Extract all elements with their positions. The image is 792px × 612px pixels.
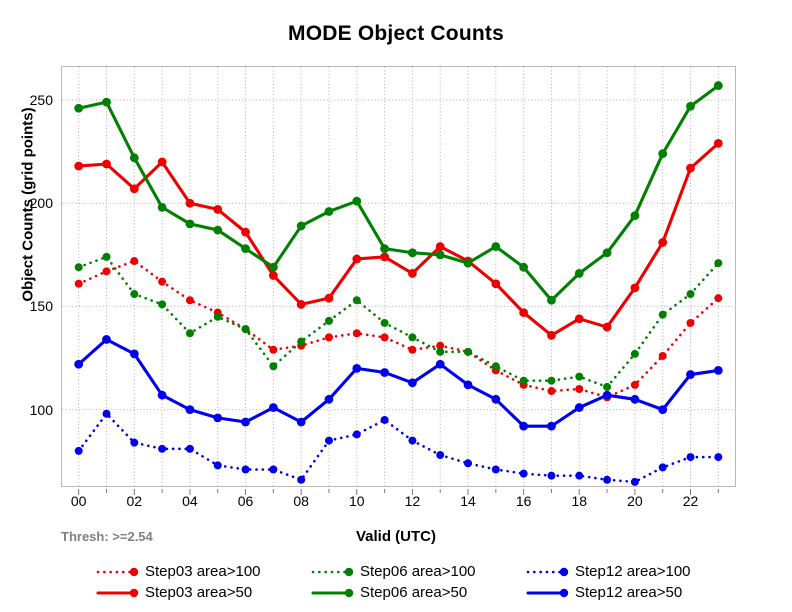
legend-label: Step12 area>100 — [575, 564, 691, 579]
legend-label: Step03 area>50 — [145, 585, 252, 600]
legend-item[interactable]: Step12 area>50 — [526, 582, 741, 603]
legend-item[interactable]: Step03 area>50 — [96, 582, 311, 603]
y-tick-label: 100 — [30, 402, 53, 418]
threshold-annotation: Thresh: >=2.54 — [61, 529, 153, 544]
legend-label: Step06 area>100 — [360, 564, 476, 579]
dotted-line-swatch-icon — [311, 564, 357, 580]
axis-tick-marks — [61, 489, 736, 497]
legend-label: Step06 area>50 — [360, 585, 467, 600]
series-step03-area-50 — [74, 139, 722, 340]
plot-area — [61, 66, 736, 487]
legend-label: Step03 area>100 — [145, 564, 261, 579]
legend-item[interactable]: Step06 area>100 — [311, 561, 526, 582]
solid-line-swatch-icon — [96, 585, 142, 601]
chart-page: MODE Object Counts Object Counts (grid p… — [0, 0, 792, 612]
y-tick-label: 200 — [30, 195, 53, 211]
solid-line-swatch-icon — [311, 585, 357, 601]
dotted-line-swatch-icon — [526, 564, 572, 580]
legend-item[interactable]: Step03 area>100 — [96, 561, 311, 582]
legend-label: Step12 area>50 — [575, 585, 682, 600]
y-tick-label: 250 — [30, 92, 53, 108]
legend-column: Step03 area>100Step03 area>50 — [96, 561, 311, 605]
y-axis-ticks: 100150200250 — [0, 66, 53, 487]
chart-legend: Step03 area>100Step03 area>50Step06 area… — [96, 561, 756, 605]
x-axis-ticks: 000204060810121416182022 — [61, 489, 736, 513]
series-step06-area-50 — [74, 81, 722, 304]
dotted-line-swatch-icon — [96, 564, 142, 580]
series-step03-area-100 — [75, 257, 723, 401]
legend-column: Step06 area>100Step06 area>50 — [311, 561, 526, 605]
y-tick-label: 150 — [30, 298, 53, 314]
series-step06-area-100 — [75, 253, 723, 391]
legend-item[interactable]: Step06 area>50 — [311, 582, 526, 603]
series-canvas — [62, 67, 735, 486]
solid-line-swatch-icon — [526, 585, 572, 601]
gridlines — [62, 67, 735, 486]
page-title: MODE Object Counts — [0, 22, 792, 46]
legend-column: Step12 area>100Step12 area>50 — [526, 561, 741, 605]
series-step12-area-50 — [74, 335, 722, 430]
plot-inner — [62, 67, 735, 486]
series-step12-area-100 — [75, 410, 723, 486]
legend-item[interactable]: Step12 area>100 — [526, 561, 741, 582]
